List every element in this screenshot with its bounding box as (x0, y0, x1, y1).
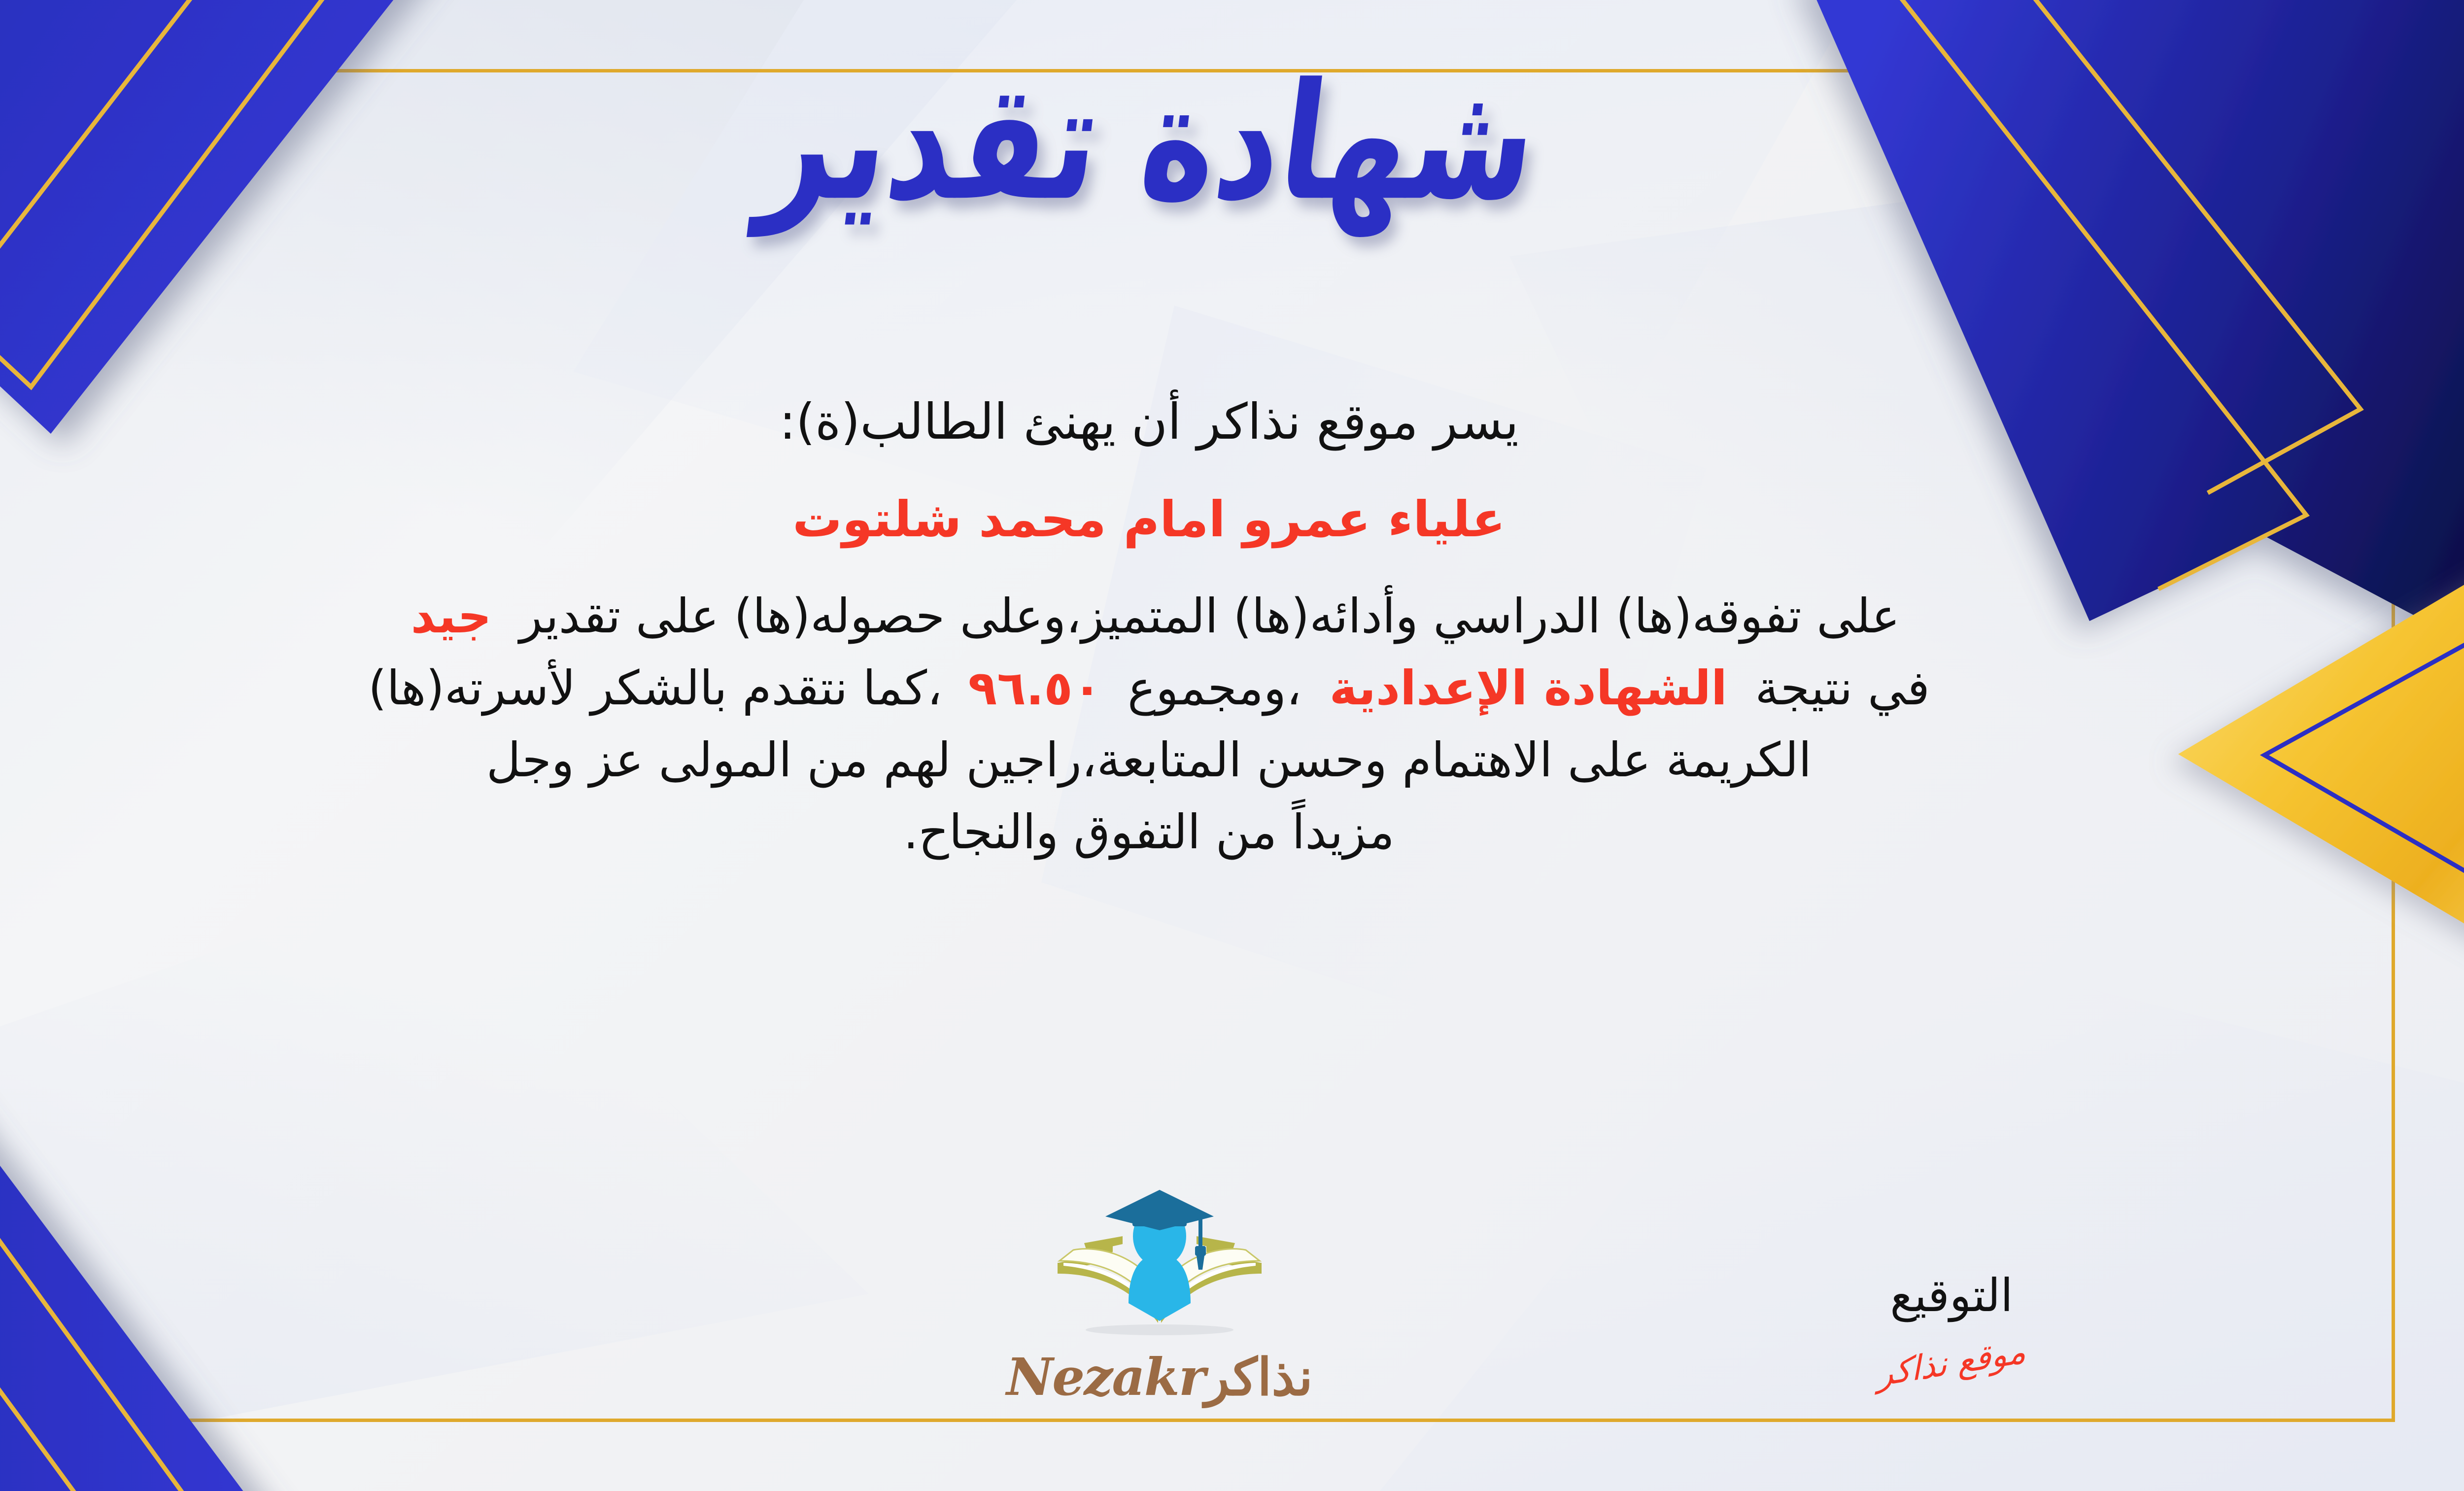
page-title: شهادة تقدير (752, 55, 1545, 232)
logo-wordmark-latin: Nezakr (1006, 1347, 1205, 1407)
paragraph-line-4: مزيداً من التفوق والنجاح. (0, 797, 2351, 868)
thanks-text: ،كما نتقدم بالشكر لأسرته(ها) (368, 660, 942, 716)
certificate-title-area: شهادة تقدير (0, 74, 2464, 281)
paragraph-line-1-text: على تفوقه(ها) الدراسي وأدائه(ها) المتميز… (519, 589, 1900, 644)
certificate-page: شهادة تقدير يسر موقع نذاكر أن يهنئ الطال… (0, 0, 2464, 1491)
paragraph-line-3: الكريمة على الاهتمام وحسن المتابعة،راجين… (0, 725, 2351, 797)
paragraph-line-1: على تفوقه(ها) الدراسي وأدائه(ها) المتميز… (0, 581, 2351, 653)
signature-block: التوقيع موقع نذاكر (1814, 1269, 2089, 1383)
paragraph-line-2: في نتيجة الشهادة الإعدادية ،ومجموع ٩٦.٥٠… (0, 653, 2351, 725)
body-paragraph: على تفوقه(ها) الدراسي وأدائه(ها) المتميز… (0, 581, 2351, 868)
student-name: علياء عمرو امام محمد شلتوت (0, 482, 2351, 557)
graduate-book-logo-icon (1044, 1189, 1275, 1352)
logo-wordmark: نذاكرNezakr (972, 1347, 1347, 1407)
intro-line: يسر موقع نذاكر أن يهنئ الطالب(ة): (0, 384, 2351, 459)
signature-label: التوقيع (1814, 1269, 2089, 1322)
site-logo-block: نذاكرNezakr (972, 1189, 1347, 1407)
certificate-body: يسر موقع نذاكر أن يهنئ الطالب(ة): علياء … (0, 384, 2351, 868)
exam-name-value: الشهادة الإعدادية (1317, 660, 1740, 716)
grade-value: جيد (398, 589, 505, 644)
exam-prefix-text: في نتيجة (1755, 660, 1930, 716)
logo-wordmark-arabic: نذاكر (1205, 1347, 1313, 1407)
total-score-value: ٩٦.٥٠ (958, 660, 1113, 716)
total-prefix-text: ،ومجموع (1128, 660, 1301, 716)
